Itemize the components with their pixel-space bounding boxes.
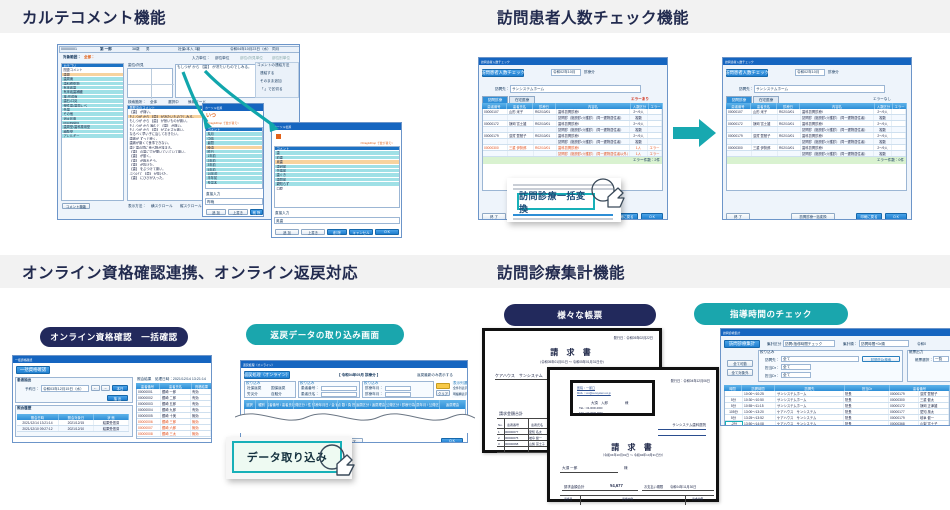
front-due-value: 令和04年11月30日	[670, 484, 696, 489]
online-section-history: 照会履歴	[17, 407, 31, 411]
input-unit-opt-0[interactable]: 部位単位	[215, 57, 229, 61]
visit-tab-1[interactable]: 在宅医療	[509, 96, 535, 103]
stats-agg-order-value: 訪問時間+Dr順	[861, 343, 885, 347]
return-window-title: 返戻処理（オンライン）	[243, 362, 275, 367]
dialog2-direct-label: 直接入力	[275, 212, 289, 216]
stats-window-title: 訪問診療集計	[723, 330, 740, 335]
visit-window-title-after: 訪問患者人数チェック	[725, 59, 754, 64]
dialog2-direct-field[interactable]	[274, 217, 400, 224]
visit-callout-label: 訪問診療一括変換	[519, 189, 593, 215]
karte-dialog-when[interactable]: カーソル位置 いつ <Drag&Drop で並び替え> コメント 系月 中鳴 最…	[202, 103, 264, 217]
dialog2-list-item[interactable]: 口腔	[275, 187, 399, 191]
front-fax: FAX：03-0000-0000	[579, 411, 603, 415]
page-title-visit: 訪問患者人数チェック機能	[497, 6, 689, 28]
stats-agg-type-value: 訪問・指導時間チェック	[785, 343, 822, 347]
section-visit: 訪問患者人数チェック機能 訪問患者人数チェック 訪問患者人数チェック 令和02年…	[475, 0, 950, 255]
page-title-online: オンライン資格確認連携、オンライン返戻対応	[22, 261, 358, 283]
stats-filter-label-1: 担当Dr：	[765, 367, 780, 371]
visit-window-title: 訪問患者人数チェック	[481, 59, 510, 64]
visit-app-tab[interactable]: 訪問患者人数チェック	[482, 69, 524, 77]
dialog-titlebar: カーソル位置	[203, 104, 263, 111]
filter-period-field-1[interactable]	[385, 392, 411, 398]
comment-text: もしつが から 【歯】 が冷たいものでしみる。	[177, 66, 252, 70]
dialog-delete-button[interactable]: 削 除	[250, 209, 263, 215]
filter-item-kokuho[interactable]: 国保返戻	[271, 387, 285, 391]
invoice-back-issue-date: 発行日：令和05年02月22日	[614, 335, 653, 340]
visit-dest-value-after: サンシステムホーム	[756, 88, 788, 92]
dialog2-hint: <Drag&Drop で並び替え>	[360, 142, 393, 145]
table-row-error[interactable]: 00000008銀崎 三太無効	[137, 431, 211, 437]
dialog2-titlebar: カーソル位置	[272, 123, 401, 130]
filter-title-2: 絞り込み	[364, 382, 378, 386]
dialog2-cancel-button[interactable]: キャンセル	[349, 229, 373, 235]
patient-date: 令和04年10月23日（水）	[230, 48, 271, 52]
input-unit-label: 入力単位：	[192, 57, 210, 61]
badge-online-verify: オンライン資格確認 一括確認	[40, 327, 188, 347]
dialog-add-button[interactable]: 追 加	[206, 209, 226, 215]
stats-filter-value-2: 全て	[783, 374, 790, 378]
input-unit-opt-1[interactable]: 部位・所見単位	[240, 57, 263, 61]
patient-number: 00000001	[61, 48, 77, 52]
return-titlebar: 返戻処理（オンライン）	[241, 361, 467, 368]
stats-agg-order-label: 集計順：	[843, 343, 857, 347]
table-row[interactable]: 2021/12/10 09:27:12 2021/12/10 結果受信済	[17, 426, 129, 432]
input-unit-opt-2[interactable]: 部位別単位	[272, 57, 290, 61]
visit-tab-0[interactable]: 訪問診療	[482, 96, 508, 103]
hand-cursor-icon	[590, 175, 630, 213]
display-method-label: 表示方法：	[128, 205, 146, 209]
direct-input-label: 直接入力	[206, 193, 220, 197]
invoice-back-col-1: 患者番号	[507, 423, 519, 427]
stats-filter-title: 絞り込み	[760, 351, 774, 355]
front-addressee: 大須 一郎	[562, 466, 577, 471]
karte-dialog-part[interactable]: カーソル位置 <Drag&Drop で並び替え> コメント 歯 前歯 奥歯 歯冠…	[271, 122, 402, 238]
front-due-label: お支払い期限	[644, 484, 663, 489]
stats-window[interactable]: 訪問診療集計 訪問診療集計 集計区分： 訪問・指導時間チェック 集計順： 訪問時…	[720, 328, 950, 426]
front-total-label: 請求金額合計	[564, 484, 584, 489]
return-period: 【 令和04年05月 診療分 】	[337, 374, 380, 378]
patient-status: 同月	[272, 48, 279, 52]
dialog2-item-list[interactable]: コメント 歯 前歯 奥歯 歯冠部 先端部 歯ぐき 歯間部 親知らず 口腔	[274, 146, 400, 208]
target-range-value: 全部：	[84, 56, 95, 60]
stats-filter-value-1: 全て	[783, 366, 790, 370]
torn-edge-decoration	[235, 407, 475, 433]
visit-period-suffix-after: 診療分	[828, 71, 839, 75]
visit-window-after[interactable]: 訪問患者人数チェック 訪問患者人数チェック 令和02年10月 診療分 訪問先： …	[722, 57, 912, 220]
patient-sex: 男	[146, 48, 150, 52]
online-today-button[interactable]: 本日	[112, 385, 128, 391]
filter-period-label-1: 診療年月：	[365, 393, 383, 397]
front-total-value: ¥4,677	[610, 483, 623, 488]
online-reserve-label: 予約日：	[25, 388, 39, 392]
dialog2-overwrite-button[interactable]: 上書き	[301, 229, 325, 235]
stats-clear-all-button[interactable]: 全て対象外	[727, 369, 753, 376]
visit-summary-row-before: エラー件数：2件	[483, 157, 662, 164]
visit-summary-before: エラー件数：2件	[633, 159, 660, 163]
invoice-back-title: 請 求 書	[485, 347, 659, 358]
invoice-back-col-0: No.	[498, 423, 503, 427]
stats-app-tab[interactable]: 訪問診療集計	[724, 340, 760, 348]
dialog-overwrite-button[interactable]: 上書き	[228, 209, 248, 215]
dialog2-direct-value: 奥歯	[276, 220, 283, 224]
category-list[interactable]: カテゴリ 関連コメント 歯周 歯周病 歯科修復物 有床義歯 有床義歯補綴 接・形…	[61, 63, 124, 201]
stats-titlebar: 訪問診療集計	[721, 329, 950, 336]
insert-option-2[interactable]: 「,」で区切る	[260, 88, 283, 92]
online-titlebar: 一括資格確認	[13, 356, 211, 363]
transition-arrow-icon	[673, 118, 717, 148]
invoice-back-period: （令和05年01月01日 ～ 令和05年01月31日分）	[485, 359, 659, 364]
target-range-label: 対象範囲：	[63, 56, 81, 60]
visit-tab-0-after[interactable]: 訪問診療	[726, 96, 752, 103]
filter-item-rousai[interactable]: 労災分	[247, 393, 258, 397]
stats-output-panel	[907, 350, 950, 382]
visit-dest-value: サンシステムホーム	[512, 88, 544, 92]
front-title: 請 求 書	[550, 442, 716, 453]
front-col-2: 請求金額	[692, 497, 703, 501]
visit-exit-button-after[interactable]: 終 了	[726, 213, 750, 220]
dialog-field-label: いつ	[206, 114, 216, 119]
front-clinic-block: サンシステム歯科医院	[672, 422, 706, 427]
badge-various-forms: 様々な帳票	[504, 304, 656, 326]
filter-period-field-0[interactable]	[385, 386, 411, 392]
visit-grid-after[interactable]: 00000107山形 米子R02/10/01歯科訪問診療I2～9人 訪問診（施設…	[726, 109, 907, 191]
visit-titlebar-after: 訪問患者人数チェック	[723, 58, 911, 65]
filter-title-0: 絞り込み	[246, 382, 260, 386]
stats-grid-body[interactable]: 10:00～10:25サンシステムホーム院長00000179滋賀 琵琶子 5分1…	[724, 391, 950, 426]
filter-apply-button[interactable]	[436, 383, 450, 389]
stats-filter-label-0: 訪問先：	[765, 359, 779, 363]
stats-output-value: 一覧	[935, 358, 942, 362]
online-verify-window[interactable]: 一括資格確認 一括資格確認 患者抽出 予約日： 令和03年12月15日（水） ←…	[12, 355, 212, 443]
visit-ok-button-after[interactable]: O K	[885, 213, 907, 220]
online-next-button[interactable]: →	[101, 385, 110, 391]
display-col-opt-0[interactable]: 全件列表示	[453, 387, 467, 390]
online-app-tab[interactable]: 一括資格確認	[16, 366, 50, 374]
page-title-stats: 訪問診療集計機能	[497, 261, 625, 283]
visit-period-suffix: 診療分	[584, 71, 595, 75]
stats-filter-search-button[interactable]: 訪問先Dr検索	[862, 356, 900, 362]
hand-cursor-icon	[318, 440, 360, 480]
dialog-item-list[interactable]: コメント 系月 中鳴 最間 晩頃 昨日 1年前 2年前 3年前 5年前 10年前…	[205, 127, 263, 189]
visit-error-status-before: エラーあり	[631, 98, 649, 102]
visit-period-value: 令和02年10月	[553, 71, 575, 75]
visit-summary-row-after: エラー件数：0件	[727, 157, 906, 164]
dialog-list-item[interactable]: 長温本	[206, 181, 262, 185]
dialog2-color-swatch	[276, 134, 281, 139]
display-opt-0[interactable]: 横スクロール	[151, 205, 173, 209]
filter-patient-no-field[interactable]	[321, 386, 357, 392]
section-stats: 訪問診療集計機能 様々な帳票 指導時間のチェック 発行日：令和05年02月22日…	[475, 255, 950, 510]
stats-filter-value-0: 全て	[783, 358, 790, 362]
front-patient-name: 大須 人郎	[591, 400, 608, 405]
invoice-back-col-2: 患者氏名	[531, 423, 543, 427]
patient-insurance: 社保・本人 3割	[178, 48, 200, 52]
dialog-hint: <Drag&Drop で並び替え>	[206, 122, 239, 125]
visit-app-tab-after[interactable]: 訪問患者人数チェック	[726, 69, 768, 77]
visit-dest-label-after: 訪問先：	[739, 88, 753, 92]
direct-input-value: 昨晩	[207, 201, 214, 205]
front-col-0: 診療日	[564, 497, 572, 501]
return-app-tab[interactable]: 返戻処理（オンライン）	[244, 371, 290, 379]
dialog2-add-button[interactable]: 追 加	[275, 229, 299, 235]
visit-callout-button[interactable]: 訪問診療一括変換	[517, 193, 595, 210]
patient-name: 第 一郎	[100, 48, 112, 52]
display-opt-1[interactable]: 縦スクロール	[180, 205, 202, 209]
online-extract-button[interactable]: 抽 出	[107, 395, 128, 401]
online-result-grid[interactable]: 00000001銀崎 一郎有効 00000002銀崎 二郎有効 00000003…	[136, 389, 212, 439]
slide-page: カルテコメント機能 00000001 第 一郎 38歳 男 社保・本人 3割 令…	[0, 0, 950, 510]
visit-error-status-after: エラーなし	[873, 98, 891, 102]
stats-filter-label-2: 担当Dr：	[765, 375, 780, 379]
filter-patient-no-label: 患者番号：	[301, 387, 319, 391]
visit-exit-button-before[interactable]: 終 了	[482, 213, 506, 220]
online-reserve-value: 令和03年12月15日（水）	[43, 388, 84, 392]
front-patient-honorific: 様	[625, 400, 628, 405]
return-latest-only-checkbox[interactable]: 返戻最新のみ表示する	[417, 374, 453, 378]
invoice-document-front: 医院：一郎口 MAIL：xxx@sunsystem.co.jp 大須 人郎 様 …	[547, 367, 719, 502]
stats-select-all-button[interactable]: 全て可動	[727, 360, 753, 367]
visit-dest-label: 訪問先：	[495, 88, 509, 92]
section-karte: カルテコメント機能 00000001 第 一郎 38歳 男 社保・本人 3割 令…	[0, 0, 475, 255]
comment-feature-button[interactable]: コメント機能	[62, 203, 90, 209]
visit-back-button-after[interactable]: 印刷に戻る	[856, 213, 882, 220]
front-issue-date: 発行日：令和04年12月06日	[671, 378, 710, 383]
filter-patient-name-field[interactable]	[321, 392, 357, 398]
visit-titlebar: 訪問患者人数チェック	[479, 58, 667, 65]
stats-output-label: 帳票選択：	[915, 359, 933, 363]
online-prev-button[interactable]: ←	[91, 385, 100, 391]
patient-age: 38歳	[132, 48, 140, 52]
front-col-1: 診療内容	[622, 497, 633, 501]
dialog2-ok-button[interactable]: O K	[375, 229, 399, 235]
front-period: （令和04年10月01日 ～ 令和04年10月31日分）	[550, 453, 716, 457]
online-result-label: 照会結果 処理日時：2021/12/14 13:21:14	[137, 378, 206, 382]
stats-output-title: 帳票出力	[909, 351, 923, 355]
insert-option-0[interactable]: 連結する	[260, 72, 274, 76]
filter-title-1: 絞り込み	[300, 382, 314, 386]
display-col-opt-1[interactable]: 明細欄表示	[453, 393, 467, 396]
insert-option-1[interactable]: そのまま追加	[260, 80, 282, 84]
section-online: オンライン資格確認連携、オンライン返戻対応 オンライン資格確認 一括確認 返戻デ…	[0, 255, 475, 510]
stats-filter-select-0[interactable]	[781, 356, 859, 362]
clinic-info-box: 医院：一郎口 MAIL：xxx@sunsystem.co.jp 大須 人郎 様 …	[570, 380, 655, 416]
insert-method-title: コメントの連結方法	[257, 64, 289, 68]
filter-clear-button[interactable]: クリア	[436, 390, 450, 396]
stats-period: 令和0	[917, 343, 926, 347]
return-ok-button[interactable]: O K	[441, 438, 463, 443]
filter-period-label-0: 診療年月：	[365, 387, 383, 391]
import-callout-label: データ取り込み	[247, 449, 328, 465]
filter-title-3: 表示列選択	[453, 382, 468, 386]
table-row-highlighted[interactable]: -2分13:50～14:08ケアハウス サンシステム院長00000368山梨 富…	[725, 421, 949, 426]
front-honorific: 様	[624, 466, 628, 471]
visit-convert-button[interactable]: 訪問診療一括変換	[791, 213, 835, 220]
dialog2-delete-button[interactable]: 削 除	[327, 229, 347, 235]
dialog-title: カーソル位置	[205, 105, 222, 110]
category-item[interactable]: アレルギー	[62, 134, 123, 138]
front-tel: TEL：03-0000-0000	[579, 406, 603, 410]
visit-tab-1-after[interactable]: 在宅医療	[753, 96, 779, 103]
dialog2-title: カーソル位置	[274, 124, 291, 129]
visit-summary-after: エラー件数：0件	[877, 159, 904, 163]
filter-item-shaho[interactable]: 社保返戻	[247, 387, 261, 391]
page-title-karte: カルテコメント機能	[22, 6, 166, 28]
filter-item-jibai[interactable]: 自賠分	[271, 393, 282, 397]
visit-period-value-after: 令和02年10月	[797, 71, 819, 75]
online-window-title: 一括資格確認	[15, 357, 32, 362]
visit-ok-button-before[interactable]: O K	[641, 213, 663, 220]
invoice-back-total-label: 請求金額合計	[499, 411, 523, 417]
filter-patient-name-label: 患者氏名：	[301, 393, 319, 397]
badge-return-import: 返戻データの取り込み画面	[246, 324, 404, 345]
clinic-mail: MAIL：xxx@sunsystem.co.jp	[577, 391, 611, 395]
tooth-chart[interactable]	[127, 68, 173, 98]
clinic-name: 医院：一郎口	[577, 386, 595, 390]
online-section-patient: 患者抽出	[17, 379, 31, 383]
badge-guidance-time-check: 指導時間のチェック	[694, 303, 848, 325]
